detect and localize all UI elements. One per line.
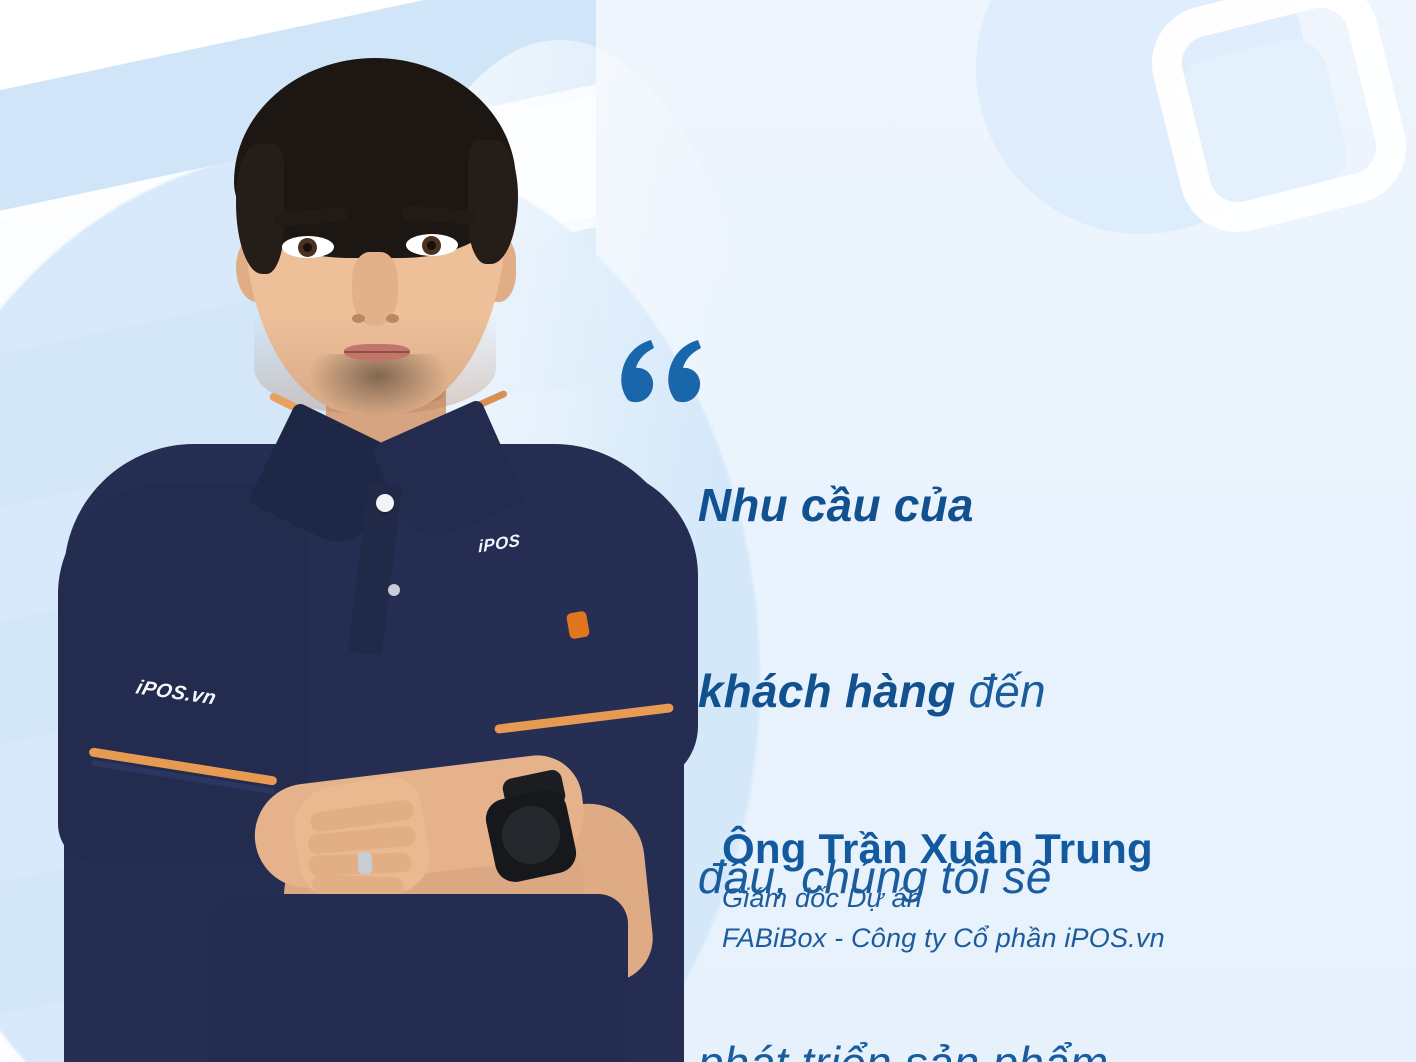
quote-segment: đến [968,665,1045,717]
ring-icon [357,852,372,875]
quote-segment: phát triển sản phẩm [698,1037,1108,1062]
testimonial-banner: iPOS iPOS.vn Nhu cầu của khách hàng đến … [0,0,1416,1062]
quote-line: khách hàng đến [620,598,1360,784]
attribution-block: Ông Trần Xuân Trung Giám đốc Dự án FABiB… [722,820,1402,958]
quote-line: Nhu cầu của [620,412,1360,598]
portrait-photo: iPOS iPOS.vn [58,14,688,1062]
speaker-name: Ông Trần Xuân Trung [722,820,1402,878]
polo-button [388,584,400,596]
quote-segment: Nhu cầu của [698,479,974,531]
speaker-role: Giám đốc Dự án [722,878,1402,918]
speaker-company: FABiBox - Công ty Cổ phần iPOS.vn [722,918,1402,958]
quote-line: phát triển sản phẩm [620,970,1360,1062]
shoulder-badge-icon [566,610,590,639]
quote-segment: khách hàng [698,665,969,717]
double-quote-icon [620,338,716,406]
polo-button [376,494,394,512]
